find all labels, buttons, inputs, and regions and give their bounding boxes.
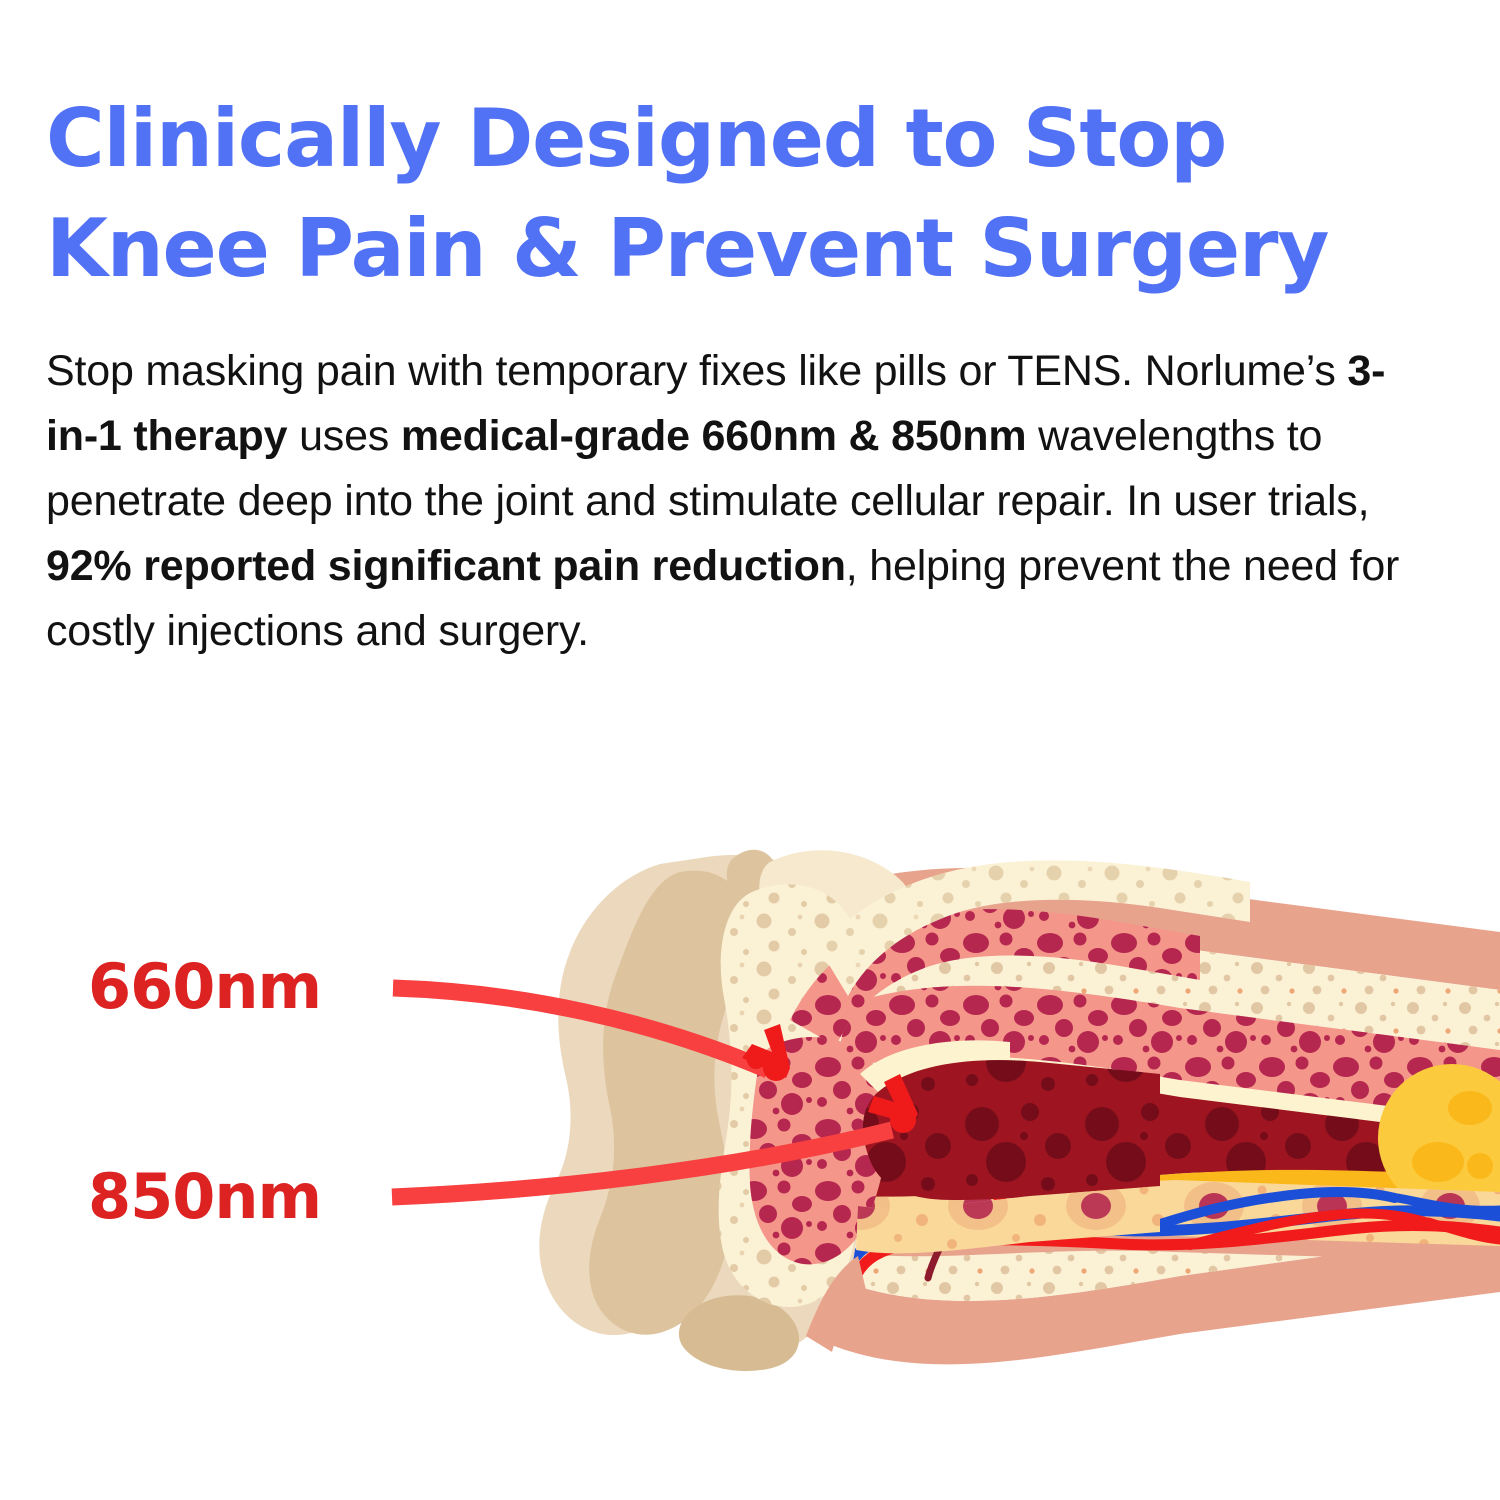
callout-label-850nm: 850nm — [88, 1160, 321, 1233]
callout-label-660nm: 660nm — [88, 950, 321, 1023]
bone-graphic-group — [392, 850, 1500, 1371]
bone-cross-section-illustration — [0, 0, 1500, 1500]
infographic-page: Clinically Designed to Stop Knee Pain & … — [0, 0, 1500, 1500]
